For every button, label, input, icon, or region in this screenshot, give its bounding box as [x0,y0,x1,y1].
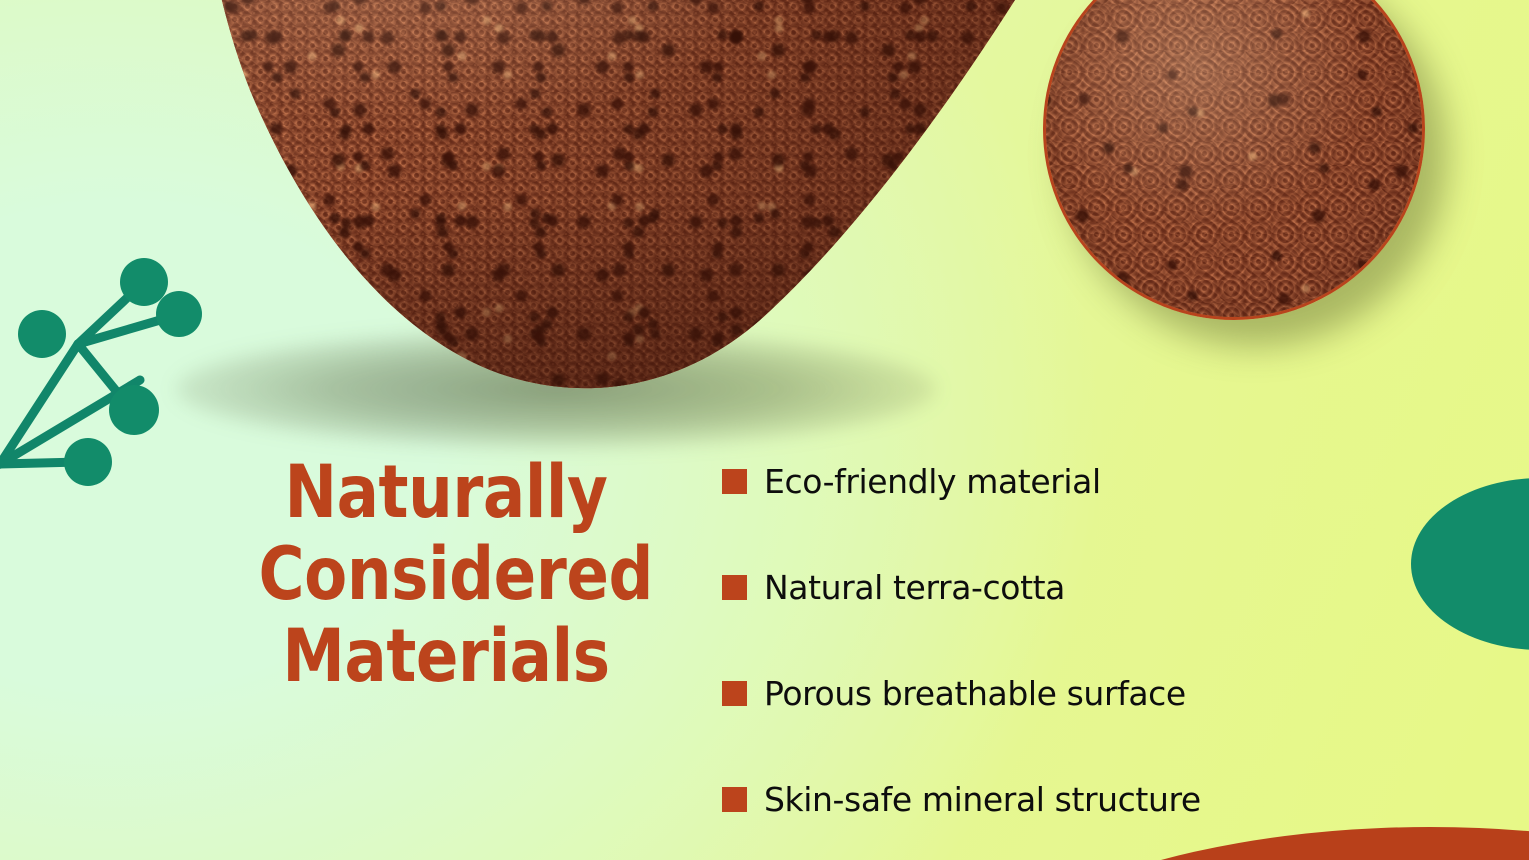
porous-terracotta-stone [160,0,1040,400]
list-item: Skin-safe mineral structure [722,746,1362,852]
terracotta-texture-closeup [1043,0,1425,320]
feature-label: Eco-friendly material [764,462,1101,501]
list-item: Natural terra-cotta [722,534,1362,640]
stone-body [160,0,1040,400]
slide-canvas: Naturally Considered Materials Eco-frien… [0,0,1529,860]
feature-label: Skin-safe mineral structure [764,780,1201,819]
title-line-1: Naturally [259,452,634,534]
feature-label: Natural terra-cotta [764,568,1065,607]
list-item: Eco-friendly material [722,428,1362,534]
closeup-shading [1046,0,1422,317]
feature-label: Porous breathable surface [764,674,1186,713]
bullet-square-icon [722,787,747,812]
bullet-square-icon [722,681,747,706]
bullet-square-icon [722,575,747,600]
teal-blob-decoration [1411,478,1529,650]
title-line-3: Materials [259,616,634,698]
feature-list: Eco-friendly material Natural terra-cott… [722,428,1362,852]
bullet-square-icon [722,469,747,494]
stone-shading [160,0,1040,400]
list-item: Porous breathable surface [722,640,1362,746]
title-line-2: Considered [259,534,634,616]
page-title: Naturally Considered Materials [259,452,634,697]
